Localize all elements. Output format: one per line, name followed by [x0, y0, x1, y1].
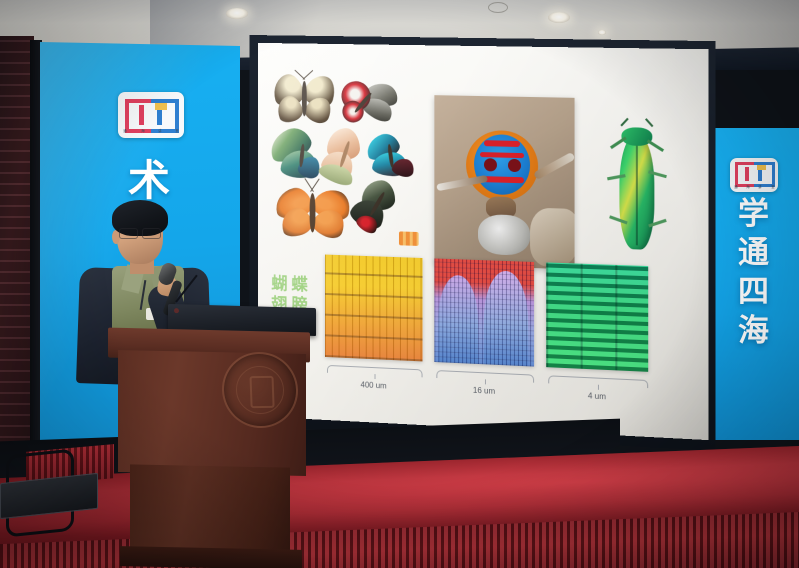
logo-mark-icon [734, 161, 774, 183]
downlight-icon [548, 12, 570, 23]
scale-label: 400 um [327, 379, 421, 392]
projection-screen: 蝴 翅 蝶 膀 400 um [258, 43, 708, 440]
banner-char: 海 [738, 313, 769, 349]
butterfly-specimen [275, 184, 350, 243]
scale-brace [327, 365, 423, 377]
sem-scale-yellow-orange [325, 255, 422, 362]
ceiling-vent-icon [488, 2, 508, 13]
left-banner-character: 术 [128, 158, 170, 204]
scale-brace [548, 375, 648, 388]
banner-char: 学 [738, 196, 769, 232]
logo-sub-char: 通 [124, 129, 127, 133]
downlight-icon [226, 8, 248, 19]
jewel-beetle-photo [605, 121, 669, 261]
sem-lamellae-green [546, 262, 648, 371]
lecture-hall-photo: 通 海 讲 堂 术 通 海 讲 堂 学 通 四 海 [0, 0, 799, 568]
glasses-icon [118, 228, 162, 237]
logo-sub-char: 讲 [158, 129, 161, 133]
banner-char: 通 [738, 235, 769, 271]
butterfly-specimen [273, 73, 336, 127]
sem-scale-purple-ridges [434, 258, 534, 366]
label-char: 蝴 [271, 274, 287, 295]
logo-mark-icon [123, 97, 178, 126]
scale-label: 4 um [548, 389, 646, 403]
logo-sub-char: 海 [141, 129, 144, 133]
downlight-icon [598, 30, 606, 35]
logo-sub-char: 堂 [771, 185, 774, 189]
peacock-spider-photo [434, 95, 574, 269]
right-banner-logo: 通 海 讲 堂 [730, 158, 778, 192]
presentation-slide: 蝴 翅 蝶 膀 400 um [258, 43, 708, 440]
right-banner-vertical-text: 学 通 四 海 [708, 196, 799, 349]
logo-sub-char: 堂 [175, 129, 178, 133]
logo-sub-char: 通 [734, 185, 737, 189]
butterfly-specimen-collage [271, 69, 416, 256]
logo-sub-char: 讲 [759, 185, 762, 189]
logo-sub-char: 海 [746, 185, 749, 189]
lectern-foot [120, 546, 302, 568]
orange-specimen-cluster [399, 231, 419, 246]
left-banner-logo: 通 海 讲 堂 [118, 92, 184, 138]
label-char: 蝶 [291, 275, 307, 296]
scale-label: 16 um [436, 384, 532, 398]
scale-brace [436, 370, 534, 383]
banner-char: 四 [738, 274, 769, 310]
